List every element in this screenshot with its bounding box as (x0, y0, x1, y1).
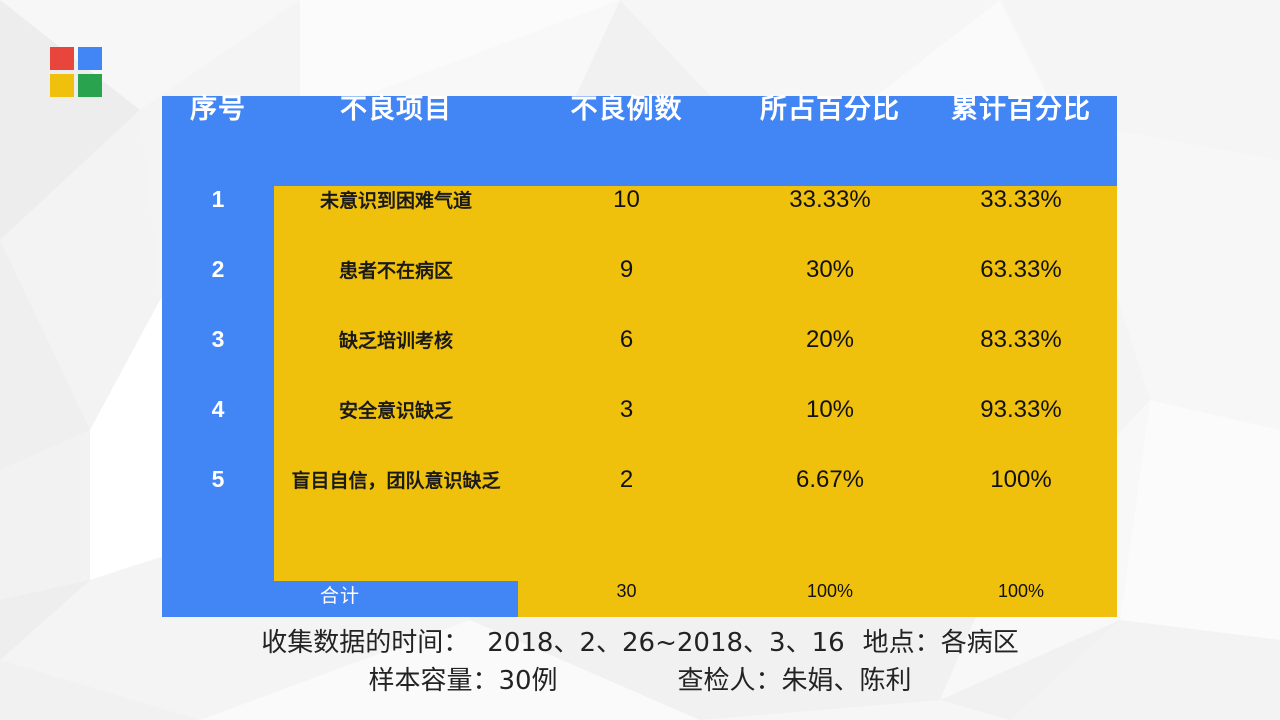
cell-item: 患者不在病区 (274, 256, 518, 326)
cell-percent: 30% (735, 256, 925, 326)
cell-cumulative: 100% (925, 466, 1117, 581)
cell-percent: 6.67% (735, 466, 925, 581)
cell-count: 2 (518, 466, 735, 581)
footer-label-location: 地点： (863, 628, 941, 658)
cell-item: 缺乏培训考核 (274, 326, 518, 396)
footer-value-location: 各病区 (941, 628, 1019, 658)
logo-square-green (78, 74, 102, 97)
logo-square-yellow (50, 74, 74, 97)
footer-value-time-range: 2018、2、26~2018、3、16 (487, 628, 844, 658)
column-header-item: 不良项目 (274, 96, 518, 186)
cell-percent: 20% (735, 326, 925, 396)
cell-count: 10 (518, 186, 735, 256)
defect-check-table: 序号 不良项目 不良例数 所占百分比 累计百分比 1 未意识到困难气道 10 3… (162, 96, 1117, 617)
column-header-no: 序号 (162, 96, 274, 186)
table-row: 2 患者不在病区 9 30% 63.33% (162, 256, 1117, 326)
table-row: 1 未意识到困难气道 10 33.33% 33.33% (162, 186, 1117, 256)
total-label: 合计 (162, 581, 518, 617)
footer-label-inspector: 查检人： (678, 666, 782, 696)
cell-count: 6 (518, 326, 735, 396)
column-header-count: 不良例数 (518, 96, 735, 186)
cell-count: 9 (518, 256, 735, 326)
column-header-cumulative: 累计百分比 (925, 96, 1117, 186)
cell-cumulative: 63.33% (925, 256, 1117, 326)
cell-cumulative: 93.33% (925, 396, 1117, 466)
cell-no: 1 (162, 186, 274, 256)
cell-percent: 33.33% (735, 186, 925, 256)
cell-no: 2 (162, 256, 274, 326)
defect-check-table-container: 序号 不良项目 不良例数 所占百分比 累计百分比 1 未意识到困难气道 10 3… (162, 96, 1117, 617)
cell-item: 盲目自信，团队意识缺乏 (274, 466, 518, 581)
cell-no: 5 (162, 466, 274, 581)
cell-no: 4 (162, 396, 274, 466)
cell-item: 安全意识缺乏 (274, 396, 518, 466)
footer-line-sample-and-inspector: 样本容量：30例查检人：朱娟、陈利 (0, 662, 1280, 700)
cell-percent: 10% (735, 396, 925, 466)
footer-label-time: 收集数据的时间： (261, 628, 469, 658)
table-header-row: 序号 不良项目 不良例数 所占百分比 累计百分比 (162, 96, 1117, 186)
footer-notes: 收集数据的时间：2018、2、26~2018、3、16地点：各病区 样本容量：3… (0, 624, 1280, 700)
cell-item: 未意识到困难气道 (274, 186, 518, 256)
footer-line-collection-time: 收集数据的时间：2018、2、26~2018、3、16地点：各病区 (0, 624, 1280, 662)
table-row: 5 盲目自信，团队意识缺乏 2 6.67% 100% (162, 466, 1117, 581)
footer-value-sample-size: 样本容量：30例 (368, 666, 557, 696)
cell-cumulative: 83.33% (925, 326, 1117, 396)
table-total-row: 合计 30 100% 100% (162, 581, 1117, 617)
logo-square-red (50, 47, 74, 70)
footer-value-inspector: 朱娟、陈利 (782, 666, 912, 696)
table-row: 3 缺乏培训考核 6 20% 83.33% (162, 326, 1117, 396)
cell-cumulative: 33.33% (925, 186, 1117, 256)
column-header-percent: 所占百分比 (735, 96, 925, 186)
four-square-logo (50, 47, 102, 97)
table-row: 4 安全意识缺乏 3 10% 93.33% (162, 396, 1117, 466)
total-count: 30 (518, 581, 735, 617)
cell-count: 3 (518, 396, 735, 466)
logo-square-blue (78, 47, 102, 70)
total-percent: 100% (735, 581, 925, 617)
total-cumulative: 100% (925, 581, 1117, 617)
cell-no: 3 (162, 326, 274, 396)
